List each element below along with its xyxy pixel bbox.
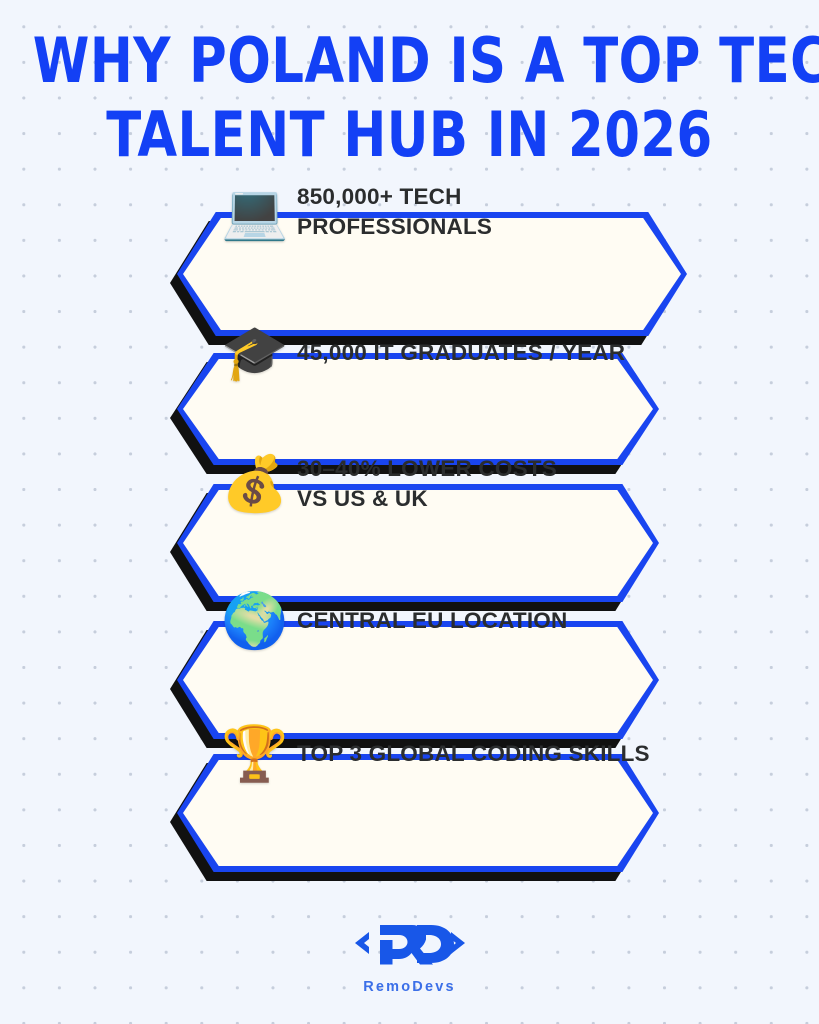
remodevs-wordmark: RemoDevs (0, 979, 819, 995)
banner-label: 30–40% LOWER COSTS VS US & UK (297, 454, 557, 514)
stat-banner-list: 💻 850,000+ TECH PROFESSIONALS 🎓 45,000 I… (0, 209, 819, 879)
infographic-page: WHY POLAND IS A TOP TECH TALENT HUB IN 2… (0, 0, 819, 1024)
laptop-coding-desk-icon: 💻 (221, 185, 283, 239)
banner-label: TOP 3 GLOBAL CODING SKILLS (297, 739, 650, 769)
remodevs-logo-icon[interactable] (343, 918, 477, 968)
footer-branding: RemoDevs (0, 918, 819, 995)
banner-row: 🌍 CENTRAL EU LOCATION (0, 611, 819, 745)
graduation-cap-icon: 🎓 (221, 326, 283, 380)
page-title: WHY POLAND IS A TOP TECH TALENT HUB IN 2… (0, 24, 819, 172)
banner-row: 💰 30–40% LOWER COSTS VS US & UK (0, 477, 819, 611)
page-title-line-2: TALENT HUB IN 2026 (33, 98, 786, 172)
banner-row: 💻 850,000+ TECH PROFESSIONALS (0, 209, 819, 343)
money-bag-icon: 💰 (221, 457, 283, 511)
banner-label: CENTRAL EU LOCATION (297, 606, 567, 636)
trophy-icon: 🏆 (221, 727, 283, 781)
page-title-line-1: WHY POLAND IS A TOP TECH (33, 24, 786, 98)
banner-label: 850,000+ TECH PROFESSIONALS (297, 182, 492, 242)
banner-label: 45,000 IT GRADUATES / YEAR (297, 338, 625, 368)
banner-row: 🏆 TOP 3 GLOBAL CODING SKILLS (0, 745, 819, 879)
globe-europe-africa-icon: 🌍 (221, 594, 283, 648)
